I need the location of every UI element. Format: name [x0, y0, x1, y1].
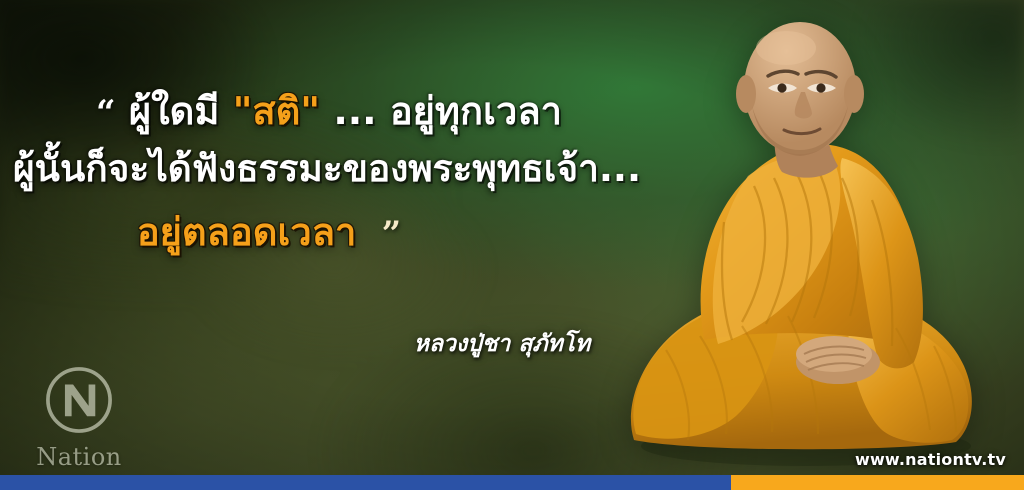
quote-line-3: อยู่ตลอดเวลา ” [0, 213, 648, 251]
quote-line-1: “ ผู้ใดมี "สติ" ... อยู่ทุกเวลา [0, 92, 648, 130]
monk-portrait-image [596, 10, 1016, 478]
nationtv-quote-banner: “ ผู้ใดมี "สติ" ... อยู่ทุกเวลา ผู้นั้นก… [0, 0, 1024, 490]
close-quote-mark: ” [382, 214, 402, 254]
quote-line-3-text: อยู่ตลอดเวลา [137, 210, 357, 254]
open-quote-mark: “ [96, 93, 116, 133]
bottom-color-bar [0, 475, 1024, 490]
site-url-text: www.nationtv.tv [855, 450, 1006, 469]
nation-logo: Nation [24, 363, 134, 471]
quote-attribution: หลวงปู่ชา สุภัทโท [0, 326, 826, 362]
nation-wordmark: Nation [24, 443, 134, 471]
quote-line-2: ผู้นั้นก็จะได้ฟังธรรมะของพระพุทธเจ้า... [0, 150, 648, 187]
quote-block: “ ผู้ใดมี "สติ" ... อยู่ทุกเวลา ผู้นั้นก… [0, 92, 648, 251]
bottom-bar-orange-segment [731, 475, 1024, 490]
quote-highlight-sati: "สติ" [233, 89, 320, 133]
bottom-bar-blue-segment [0, 475, 731, 490]
quote-line-1-part-2: ... อยู่ทุกเวลา [333, 89, 562, 133]
quote-line-1-part-1: ผู้ใดมี [129, 89, 220, 133]
nation-circle-n-icon [42, 363, 116, 437]
